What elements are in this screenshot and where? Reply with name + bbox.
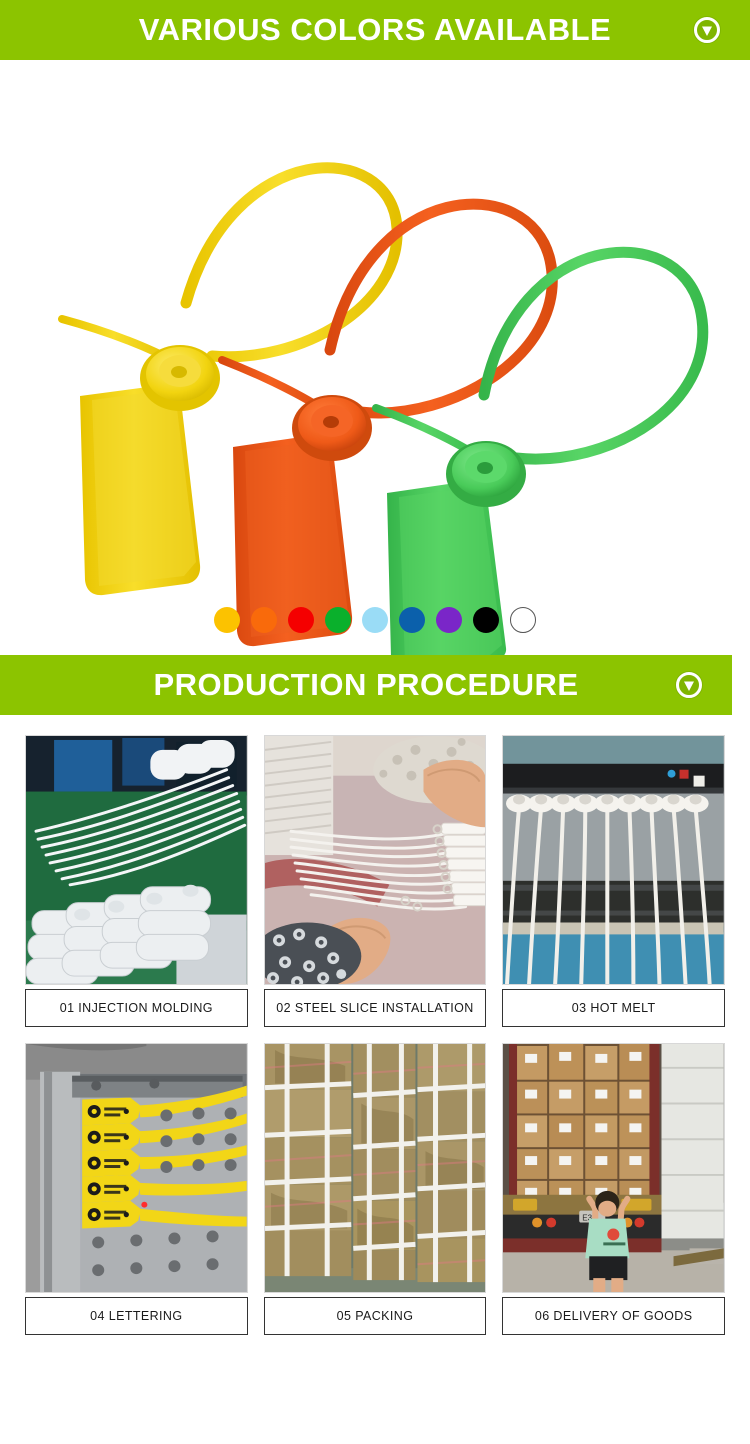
hero-illustration <box>0 60 750 655</box>
procedure-caption-05: 05 PACKING <box>264 1297 487 1335</box>
procedure-card-01[interactable]: 01 INJECTION MOLDING <box>25 735 248 1027</box>
packing-photo <box>264 1043 487 1293</box>
procedure-card-02[interactable]: 02 STEEL SLICE INSTALLATION <box>264 735 487 1027</box>
swatch-green[interactable] <box>325 607 351 633</box>
product-detail-page: VARIOUS COLORS AVAILABLE <box>0 0 750 1444</box>
procedure-card-03[interactable]: 03 HOT MELT <box>502 735 725 1027</box>
swatch-purple[interactable] <box>436 607 462 633</box>
procedure-card-05[interactable]: 05 PACKING <box>264 1043 487 1335</box>
swatch-black[interactable] <box>473 607 499 633</box>
procedure-card-04[interactable]: 04 LETTERING <box>25 1043 248 1335</box>
procedure-caption-06: 06 DELIVERY OF GOODS <box>502 1297 725 1335</box>
color-swatch-list <box>0 607 750 633</box>
steel-slice-installation-photo <box>264 735 487 985</box>
product-hero-image <box>0 60 750 655</box>
triangle-down-circle-icon[interactable] <box>692 15 722 45</box>
lettering-photo <box>25 1043 248 1293</box>
injection-molding-photo <box>25 735 248 985</box>
triangle-down-circle-icon[interactable] <box>674 670 704 700</box>
swatch-blue[interactable] <box>399 607 425 633</box>
swatch-orange[interactable] <box>251 607 277 633</box>
procedure-caption-02: 02 STEEL SLICE INSTALLATION <box>264 989 487 1027</box>
swatch-white[interactable] <box>510 607 536 633</box>
delivery-of-goods-photo: E36 <box>502 1043 725 1293</box>
colors-banner-title: VARIOUS COLORS AVAILABLE <box>139 0 611 60</box>
procedure-banner: PRODUCTION PROCEDURE <box>0 655 732 715</box>
procedure-caption-01: 01 INJECTION MOLDING <box>25 989 248 1027</box>
swatch-red[interactable] <box>288 607 314 633</box>
procedure-caption-03: 03 HOT MELT <box>502 989 725 1027</box>
procedure-grid: 01 INJECTION MOLDING <box>25 735 725 1335</box>
hot-melt-photo <box>502 735 725 985</box>
delivery-of-goods-photo-card[interactable]: E36 <box>502 1043 725 1335</box>
procedure-banner-title: PRODUCTION PROCEDURE <box>153 655 578 715</box>
production-procedure-section: 01 INJECTION MOLDING <box>0 715 750 1351</box>
swatch-light-blue[interactable] <box>362 607 388 633</box>
procedure-caption-04: 04 LETTERING <box>25 1297 248 1335</box>
colors-banner: VARIOUS COLORS AVAILABLE <box>0 0 750 60</box>
swatch-yellow[interactable] <box>214 607 240 633</box>
